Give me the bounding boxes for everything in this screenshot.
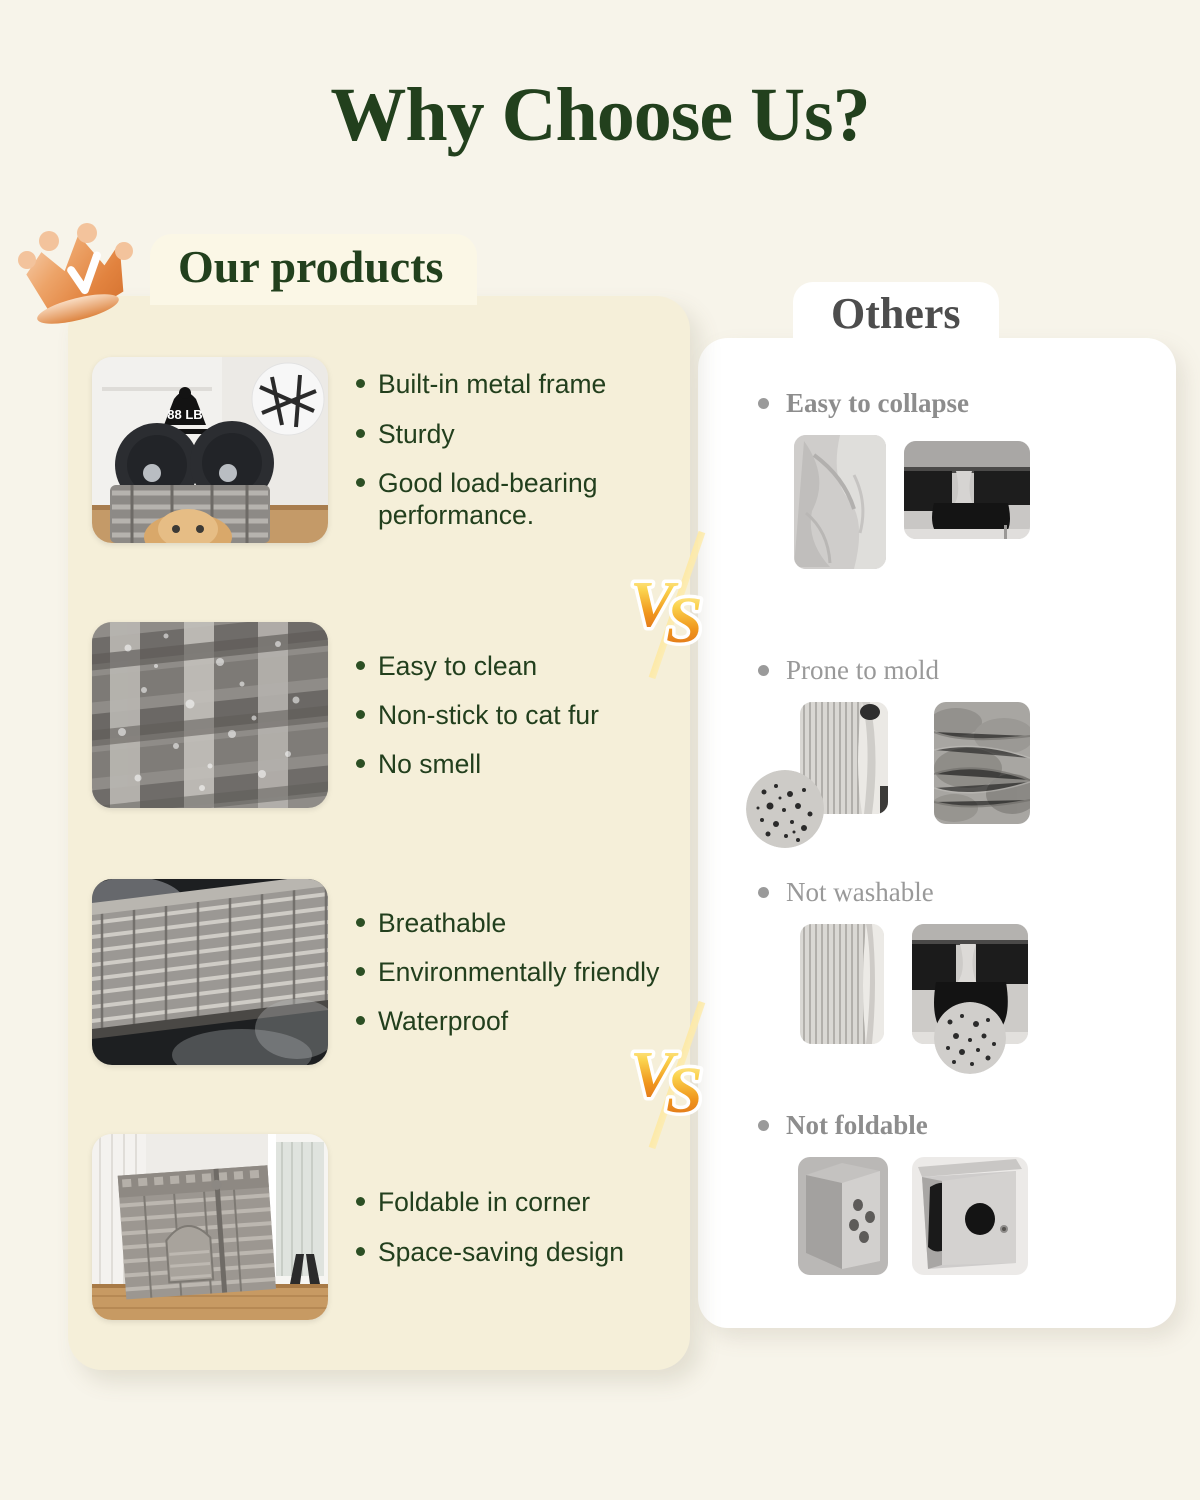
bullet-dot bbox=[758, 1120, 769, 1131]
others-group-3-heading: Not washable bbox=[758, 877, 1028, 908]
bullet-dot bbox=[758, 665, 769, 676]
our-products-tab-label: Our products bbox=[150, 234, 477, 305]
bullet-dot bbox=[758, 398, 769, 409]
list-item: Good load-bearing performance. bbox=[356, 467, 676, 532]
others-group-4: Not foldable bbox=[758, 1110, 1028, 1275]
list-item: Built-in metal frame bbox=[356, 368, 676, 400]
list-item: Easy to clean bbox=[356, 650, 599, 682]
dirt-spots-closeup-circle bbox=[934, 1002, 1006, 1074]
bullet-dot bbox=[356, 478, 365, 487]
bullet-dot bbox=[356, 1247, 365, 1256]
list-item: Sturdy bbox=[356, 418, 676, 450]
list-item: Breathable bbox=[356, 907, 659, 939]
bullet-dot bbox=[356, 1197, 365, 1206]
rigid-gray-box-photo bbox=[798, 1157, 888, 1275]
bullet-dot bbox=[356, 379, 365, 388]
list-item: Waterproof bbox=[356, 1005, 659, 1037]
unwashable-fabric-photo bbox=[800, 924, 884, 1044]
list-item: Foldable in corner bbox=[356, 1186, 624, 1218]
others-tab-label: Others bbox=[793, 282, 999, 353]
collapsed-dark-enclosure-photo bbox=[904, 441, 1030, 539]
bullet-dot bbox=[356, 661, 365, 670]
list-item: No smell bbox=[356, 748, 599, 780]
crown-check-icon bbox=[8, 210, 158, 330]
our-feature-row-4: Foldable in corner Space-saving design bbox=[92, 1134, 624, 1320]
woven-rattan-water-droplets-photo bbox=[92, 622, 328, 808]
our-feature-list-3: Breathable Environmentally friendly Wate… bbox=[356, 907, 659, 1038]
others-group-1-heading: Easy to collapse bbox=[758, 388, 1030, 419]
our-feature-list-2: Easy to clean Non-stick to cat fur No sm… bbox=[356, 650, 599, 781]
others-group-2: Prone to mold bbox=[758, 655, 1030, 824]
our-feature-row-1: 88 LB Built-in meta bbox=[92, 357, 676, 543]
mold-spots-closeup-circle bbox=[746, 770, 824, 848]
our-feature-list-4: Foldable in corner Space-saving design bbox=[356, 1186, 624, 1268]
vs-badge-top: V V S S bbox=[624, 530, 724, 680]
others-group-1: Easy to collapse bbox=[758, 388, 1030, 569]
page-title: Why Choose Us? bbox=[0, 72, 1200, 159]
our-feature-row-2: Easy to clean Non-stick to cat fur No sm… bbox=[92, 622, 599, 808]
bullet-dot bbox=[356, 429, 365, 438]
list-item: Space-saving design bbox=[356, 1236, 624, 1268]
bullet-dot bbox=[356, 967, 365, 976]
our-feature-list-1: Built-in metal frame Sturdy Good load-be… bbox=[356, 368, 676, 531]
bullet-dot bbox=[758, 887, 769, 898]
breathable-rattan-weave-steam-photo bbox=[92, 879, 328, 1065]
bullet-dot bbox=[356, 1016, 365, 1025]
others-group-3: Not washable bbox=[758, 877, 1028, 1044]
others-group-2-heading: Prone to mold bbox=[758, 655, 1030, 686]
rigid-box-with-hole-photo bbox=[912, 1157, 1028, 1275]
vs-badge-bottom: V V S S bbox=[624, 1000, 724, 1150]
our-feature-row-3: Breathable Environmentally friendly Wate… bbox=[92, 879, 659, 1065]
list-item: Environmentally friendly bbox=[356, 956, 659, 988]
folded-rattan-litter-box-photo bbox=[92, 1134, 328, 1320]
list-item: Non-stick to cat fur bbox=[356, 699, 599, 731]
moldy-wall-surface-photo bbox=[934, 702, 1030, 824]
collapsed-fabric-bag-photo bbox=[794, 435, 886, 569]
svg-text:88 LB: 88 LB bbox=[167, 407, 202, 422]
bullet-dot bbox=[356, 710, 365, 719]
svg-text:S: S bbox=[666, 1054, 703, 1127]
weight-plates-in-basket-photo: 88 LB bbox=[92, 357, 328, 543]
svg-text:S: S bbox=[666, 584, 703, 657]
bullet-dot bbox=[356, 918, 365, 927]
others-group-4-heading: Not foldable bbox=[758, 1110, 1028, 1141]
bullet-dot bbox=[356, 759, 365, 768]
